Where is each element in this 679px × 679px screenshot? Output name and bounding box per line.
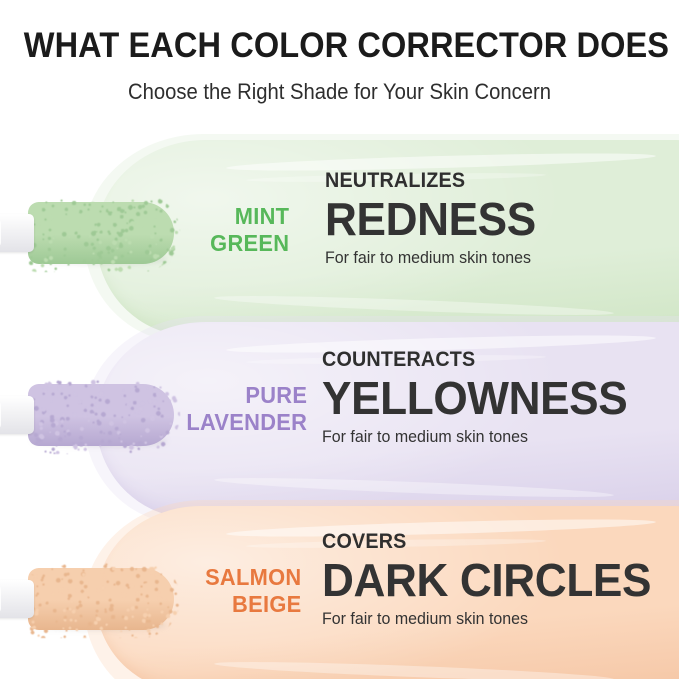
wand-stem — [0, 580, 34, 618]
header: WHAT EACH COLOR CORRECTOR DOES Choose th… — [0, 0, 679, 105]
shade-name-line-1: SALMON — [205, 564, 301, 591]
benefit-headline: DARK CIRCLES — [322, 554, 651, 607]
page-subtitle: Choose the Right Shade for Your Skin Con… — [27, 79, 652, 105]
wand-fuzz-texture — [22, 376, 180, 454]
shade-name-mint-green: MINT GREEN — [210, 203, 289, 257]
shade-name-pure-lavender: PURE LAVENDER — [186, 382, 307, 436]
shade-name-line-2: LAVENDER — [186, 409, 307, 436]
applicator-wand-icon-pure-lavender — [0, 374, 178, 454]
shade-copy-salmon-beige: COVERS DARK CIRCLES For fair to medium s… — [322, 530, 665, 629]
shade-name-salmon-beige: SALMON BEIGE — [205, 564, 301, 618]
swatch-highlight-streak — [214, 658, 614, 679]
shade-row-pure-lavender: PURE LAVENDER COUNTERACTS YELLOWNESS For… — [0, 316, 679, 528]
benefit-note: For fair to medium skin tones — [322, 609, 644, 629]
swatch-highlight-streak — [214, 292, 614, 318]
shade-row-mint-green: MINT GREEN NEUTRALIZES REDNESS For fair … — [0, 134, 679, 346]
shade-name-line-1: MINT — [210, 203, 289, 230]
benefit-headline: YELLOWNESS — [322, 372, 627, 425]
shade-name-line-2: GREEN — [210, 230, 289, 257]
shade-copy-mint-green: NEUTRALIZES REDNESS For fair to medium s… — [325, 169, 545, 268]
benefit-headline: REDNESS — [325, 193, 536, 246]
benefit-note: For fair to medium skin tones — [325, 248, 531, 268]
applicator-wand-icon-mint-green — [0, 192, 178, 272]
benefit-kicker: NEUTRALIZES — [325, 169, 531, 193]
swatch-highlight-streak — [214, 474, 614, 500]
benefit-kicker: COUNTERACTS — [322, 348, 621, 372]
page-title: WHAT EACH COLOR CORRECTOR DOES — [24, 26, 655, 66]
wand-stem — [0, 396, 34, 434]
benefit-note: For fair to medium skin tones — [322, 427, 621, 447]
wand-fuzz-texture — [22, 560, 180, 638]
shade-copy-pure-lavender: COUNTERACTS YELLOWNESS For fair to mediu… — [322, 348, 640, 447]
shade-name-line-2: BEIGE — [205, 591, 301, 618]
color-corrector-infographic: WHAT EACH COLOR CORRECTOR DOES Choose th… — [0, 0, 679, 679]
shade-row-salmon-beige: SALMON BEIGE COVERS DARK CIRCLES For fai… — [0, 500, 679, 679]
applicator-wand-icon-salmon-beige — [0, 558, 178, 638]
wand-stem — [0, 214, 34, 252]
benefit-kicker: COVERS — [322, 530, 644, 554]
shade-name-line-1: PURE — [186, 382, 307, 409]
wand-fuzz-texture — [22, 194, 180, 272]
